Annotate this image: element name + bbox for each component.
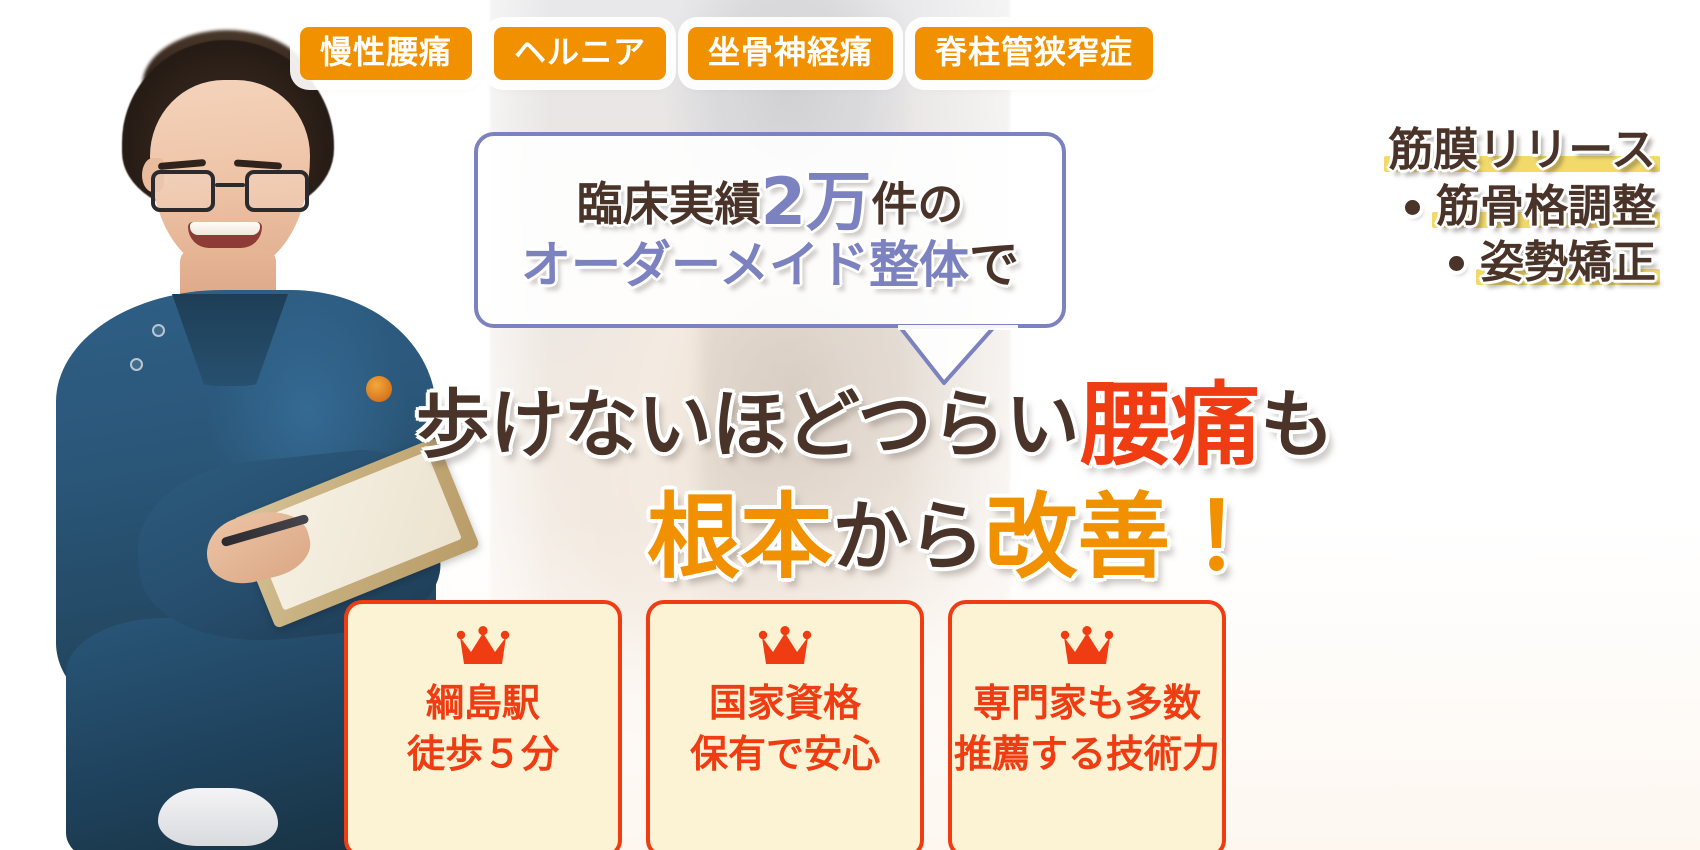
badge-line-2: 保有で安心 — [690, 729, 880, 780]
crown-icon — [1059, 626, 1115, 666]
headline-line1-particle: も — [1260, 382, 1334, 468]
trust-badge-national-license[interactable]: 国家資格 保有で安心 — [646, 600, 924, 850]
bubble-clinical-count: 2万 — [761, 164, 872, 240]
glasses-icon — [151, 170, 309, 214]
practitioner-shoe — [158, 788, 278, 846]
crown-icon — [757, 626, 813, 666]
bubble-line-1: 臨床実績2万件の — [577, 169, 964, 236]
scrub-snap-button — [152, 324, 165, 337]
feature-title-myofascial-release: 筋膜リリース — [1384, 126, 1660, 174]
condition-tag-hernia[interactable]: ヘルニア — [494, 27, 666, 80]
bubble-line-2: オーダーメイド整体で — [521, 240, 1019, 291]
bubble-service-name: オーダーメイド整体 — [521, 236, 969, 294]
bubble-line1-prefix: 臨床実績 — [577, 177, 761, 231]
condition-tag-list: 慢性腰痛 ヘルニア 坐骨神経痛 脊柱管狭窄症 — [300, 27, 1153, 80]
sleeve-patch — [366, 376, 392, 402]
badge-line-1: 専門家も多数 — [973, 678, 1201, 729]
condition-tag-sciatica[interactable]: 坐骨神経痛 — [688, 27, 893, 80]
practitioner-teeth — [190, 222, 260, 235]
trust-badge-station-access[interactable]: 綱島駅 徒歩５分 — [344, 600, 622, 850]
treatment-feature-list: 筋膜リリース 筋骨格調整 姿勢矯正 — [1384, 126, 1660, 287]
bubble-line1-suffix: 件の — [871, 177, 963, 231]
scrub-snap-button — [130, 358, 143, 371]
feature-title-row: 筋膜リリース — [1384, 126, 1660, 174]
practitioner-smile — [188, 222, 262, 248]
bubble-line2-suffix: で — [969, 236, 1019, 294]
feature-item-label: 姿勢矯正 — [1476, 240, 1660, 287]
crown-icon — [455, 626, 511, 666]
glasses-lens-right — [245, 170, 309, 212]
condition-tag-chronic-lower-back-pain[interactable]: 慢性腰痛 — [300, 27, 472, 80]
clinical-record-speech-bubble: 臨床実績2万件の オーダーメイド整体で — [474, 132, 1066, 328]
badge-line-2: 徒歩５分 — [407, 729, 559, 780]
hero-banner: 慢性腰痛 ヘルニア 坐骨神経痛 脊柱管狭窄症 臨床実績2万件の オーダーメイド整… — [0, 0, 1700, 850]
feature-item-label: 筋骨格調整 — [1432, 184, 1660, 231]
speech-bubble-tail — [898, 325, 1018, 389]
trust-badge-expert-recommended[interactable]: 専門家も多数 推薦する技術力 — [948, 600, 1226, 850]
trust-badge-list: 綱島駅 徒歩５分 国家資格 保有で安心 専門家も多数 推薦する技術力 — [344, 600, 1226, 850]
badge-line-1: 綱島駅 — [426, 678, 540, 729]
badge-line-1: 国家資格 — [709, 678, 861, 729]
glasses-lens-left — [151, 170, 215, 212]
glasses-bridge — [215, 183, 245, 187]
condition-tag-spinal-stenosis[interactable]: 脊柱管狭窄症 — [915, 27, 1153, 80]
bullet-dot-icon — [1449, 256, 1464, 271]
badge-line-2: 推薦する技術力 — [954, 729, 1220, 780]
feature-row-musculoskeletal: 筋骨格調整 — [1405, 184, 1660, 231]
bullet-dot-icon — [1405, 200, 1420, 215]
feature-row-posture: 姿勢矯正 — [1449, 240, 1660, 287]
